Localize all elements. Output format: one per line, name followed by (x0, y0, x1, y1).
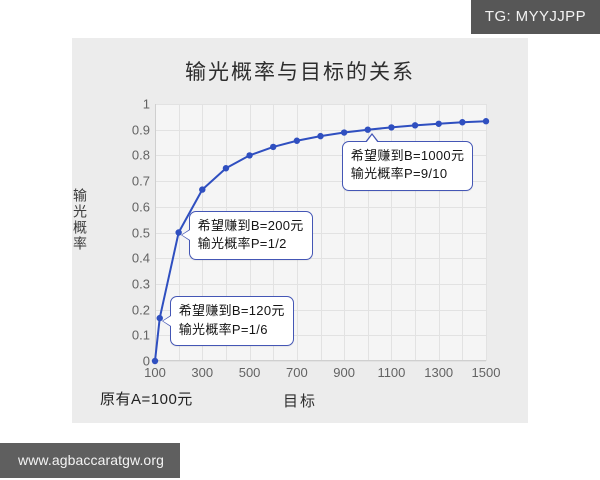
y-tick-0.3: 0.3 (132, 276, 150, 291)
annotation-b1000-line1: 希望赚到B=1000元 (351, 147, 464, 165)
data-point-500 (246, 152, 252, 158)
chart-card: 输光概率与目标的关系 输光概率 00.10.20.30.40.50.60.70.… (72, 38, 528, 423)
data-point-1400 (459, 119, 465, 125)
annotation-b200-line2: 输光概率P=1/2 (198, 235, 304, 253)
y-tick-0.4: 0.4 (132, 251, 150, 266)
gridline-horizontal (155, 361, 486, 362)
y-tick-0.5: 0.5 (132, 225, 150, 240)
data-point-300 (199, 186, 205, 192)
y-tick-0.7: 0.7 (132, 174, 150, 189)
x-tick-900: 900 (333, 365, 355, 380)
annotation-b1000: 希望赚到B=1000元 输光概率P=9/10 (342, 141, 473, 191)
data-point-1300 (436, 121, 442, 127)
gridline-vertical (486, 104, 487, 361)
y-axis-tick-labels: 00.10.20.30.40.50.60.70.80.91 (90, 104, 150, 361)
annotation-b120: 希望赚到B=120元 输光概率P=1/6 (170, 296, 294, 346)
y-tick-0.9: 0.9 (132, 122, 150, 137)
footnote-initial-amount: 原有A=100元 (100, 388, 193, 409)
data-point-100 (152, 358, 158, 364)
data-point-900 (341, 129, 347, 135)
x-tick-1300: 1300 (424, 365, 453, 380)
x-tick-100: 100 (144, 365, 166, 380)
x-tick-700: 700 (286, 365, 308, 380)
annotation-b1000-line2: 输光概率P=9/10 (351, 165, 464, 183)
y-tick-1: 1 (143, 97, 150, 112)
x-tick-500: 500 (239, 365, 261, 380)
y-tick-0.8: 0.8 (132, 148, 150, 163)
tg-tag: TG: MYYJJPP (471, 0, 600, 34)
x-axis-tick-labels: 100300500700900110013001500 (155, 365, 486, 385)
annotation-b200: 希望赚到B=200元 输光概率P=1/2 (189, 211, 313, 261)
y-tick-0.6: 0.6 (132, 199, 150, 214)
y-axis-label: 输光概率 (70, 188, 90, 252)
data-point-1500 (483, 118, 489, 124)
x-tick-300: 300 (191, 365, 213, 380)
data-point-800 (317, 133, 323, 139)
annotation-b200-line1: 希望赚到B=200元 (198, 217, 304, 235)
annotation-b120-line1: 希望赚到B=120元 (179, 302, 285, 320)
annotation-b120-line2: 输光概率P=1/6 (179, 321, 285, 339)
y-tick-0.1: 0.1 (132, 328, 150, 343)
data-point-1200 (412, 122, 418, 128)
data-point-400 (223, 165, 229, 171)
x-tick-1500: 1500 (472, 365, 501, 380)
data-point-700 (294, 138, 300, 144)
chart-title: 输光概率与目标的关系 (72, 56, 528, 86)
data-point-1100 (388, 124, 394, 130)
site-watermark: www.agbaccaratgw.org (0, 443, 180, 478)
y-tick-0.2: 0.2 (132, 302, 150, 317)
x-tick-1100: 1100 (377, 365, 405, 380)
data-point-600 (270, 144, 276, 150)
